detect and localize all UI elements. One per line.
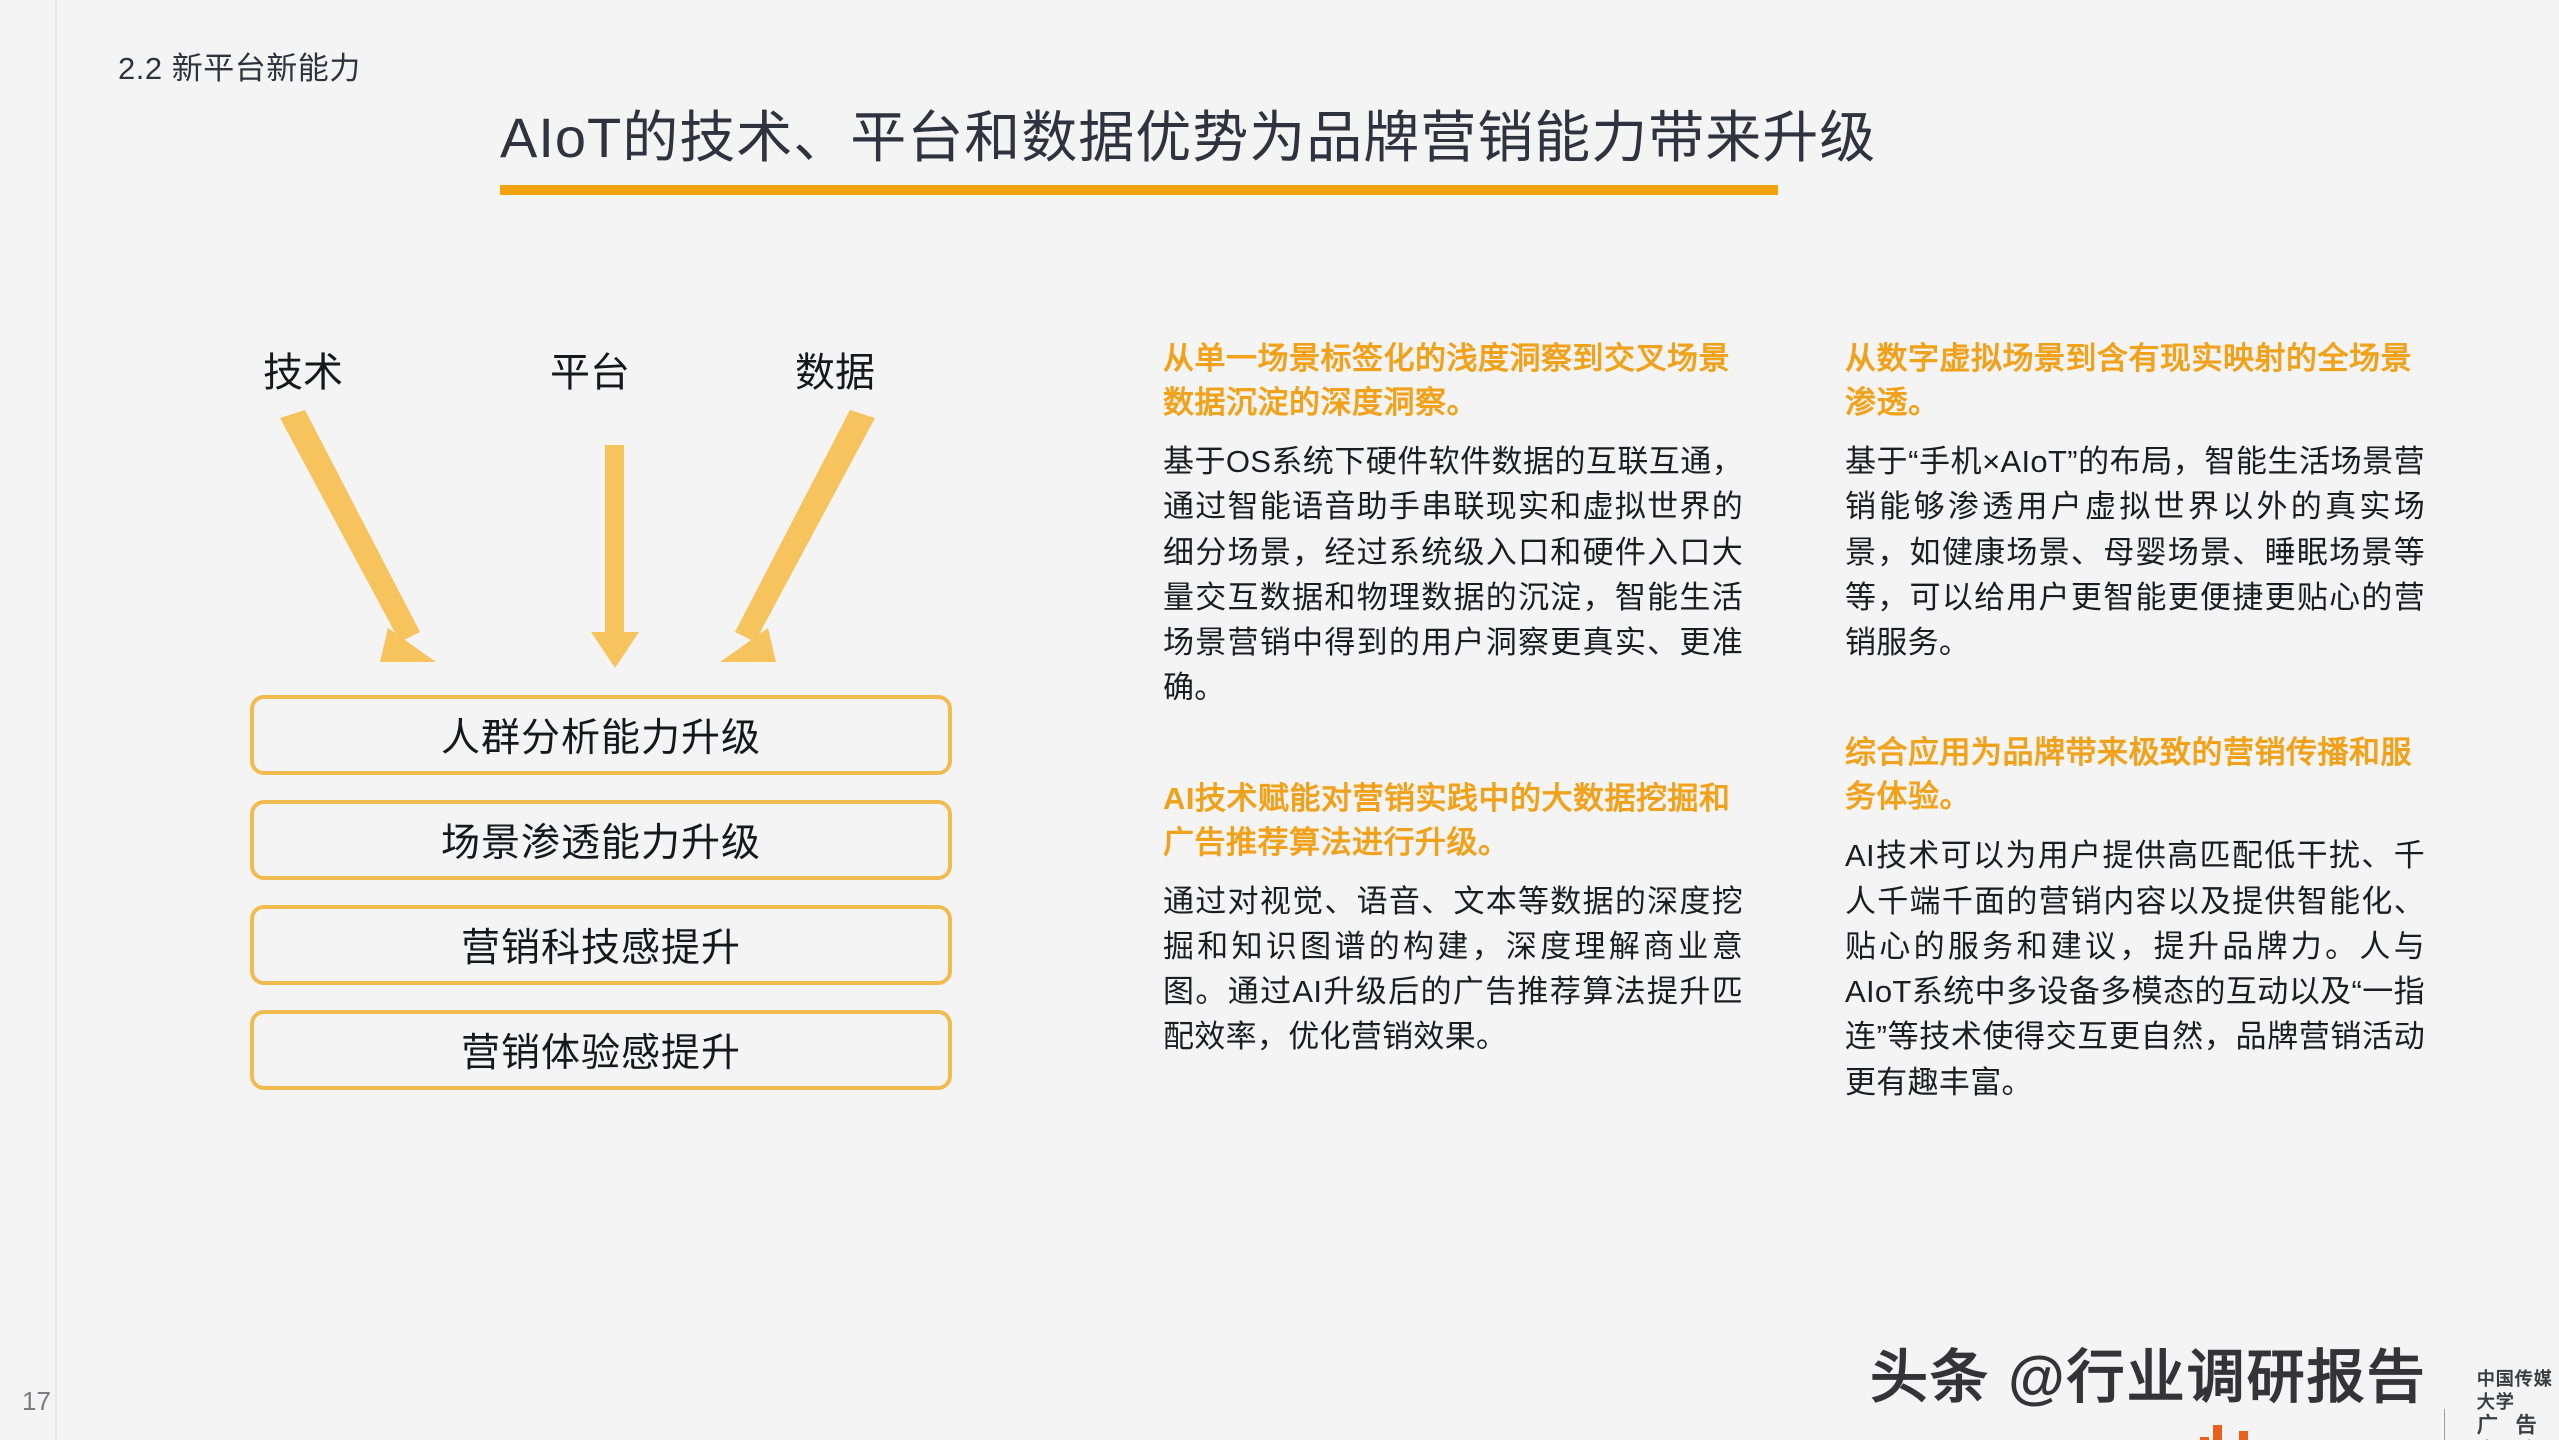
capability-label: 营销科技感提升 xyxy=(461,917,741,973)
left-margin-rule xyxy=(55,0,57,1440)
source-label-platform: 平台 xyxy=(550,340,630,398)
brand-footer: E.MI.COM 中国传媒大学 广 告 学 院 xyxy=(2200,1368,2559,1440)
capability-box-marketing-experience[interactable]: 营销体验感提升 xyxy=(250,1010,952,1090)
source-label-data: 数据 xyxy=(795,340,875,398)
title-underline xyxy=(500,185,1778,195)
arrow-down-icon xyxy=(591,445,639,668)
diagram-arrows xyxy=(250,410,980,670)
capability-box-scene-penetration[interactable]: 场景渗透能力升级 xyxy=(250,800,952,880)
text-block-scene-penetration: 从数字虚拟场景到含有现实映射的全场景渗透。 基于“手机×AIoT”的布局，智能生… xyxy=(1845,337,2425,665)
source-label-technology: 技术 xyxy=(263,340,343,398)
page-title: AIoT的技术、平台和数据优势为品牌营销能力带来升级 xyxy=(500,108,1800,168)
block-heading: 从数字虚拟场景到含有现实映射的全场景渗透。 xyxy=(1845,337,2425,425)
arrow-down-left-icon xyxy=(720,410,875,662)
block-heading: 从单一场景标签化的浅度洞察到交叉场景数据沉淀的深度洞察。 xyxy=(1163,337,1743,425)
page-number: 17 xyxy=(22,1386,51,1417)
capability-diagram: 技术 平台 数据 人群分析能力升级 场景渗 xyxy=(250,330,980,1160)
slide-root: 2.2 新平台新能力 AIoT的技术、平台和数据优势为品牌营销能力带来升级 技术… xyxy=(0,0,2559,1440)
text-block-brand-experience: 综合应用为品牌带来极致的营销传播和服务体验。 AI技术可以为用户提供高匹配低干扰… xyxy=(1845,731,2425,1105)
block-body: 基于OS系统下硬件软件数据的互联互通，通过智能语音助手串联现实和虚拟世界的细分场… xyxy=(1163,439,1743,711)
bar-chart-logo-icon xyxy=(2200,1423,2261,1440)
block-body: 通过对视觉、语音、文本等数据的深度挖掘和知识图谱的构建，深度理解商业意图。通过A… xyxy=(1163,879,1743,1060)
capability-label: 人群分析能力升级 xyxy=(441,707,761,763)
page-title-wrap: AIoT的技术、平台和数据优势为品牌营销能力带来升级 xyxy=(500,108,1800,195)
capability-label: 场景渗透能力升级 xyxy=(441,812,761,868)
capability-label: 营销体验感提升 xyxy=(461,1022,741,1078)
block-heading: AI技术赋能对营销实践中的大数据挖掘和广告推荐算法进行升级。 xyxy=(1163,777,1743,865)
block-body: 基于“手机×AIoT”的布局，智能生活场景营销能够渗透用户虚拟世界以外的真实场景… xyxy=(1845,439,2425,665)
section-kicker: 2.2 新平台新能力 xyxy=(118,43,361,88)
text-block-deep-insight: 从单一场景标签化的浅度洞察到交叉场景数据沉淀的深度洞察。 基于OS系统下硬件软件… xyxy=(1163,337,1743,711)
capability-box-crowd-analysis[interactable]: 人群分析能力升级 xyxy=(250,695,952,775)
capability-box-marketing-tech[interactable]: 营销科技感提升 xyxy=(250,905,952,985)
block-body: AI技术可以为用户提供高匹配低干扰、千人千端千面的营销内容以及提供智能化、贴心的… xyxy=(1845,833,2425,1105)
block-heading: 综合应用为品牌带来极致的营销传播和服务体验。 xyxy=(1845,731,2425,819)
brand-divider xyxy=(2444,1409,2445,1440)
capability-box-list: 人群分析能力升级 场景渗透能力升级 营销科技感提升 营销体验感提升 xyxy=(250,695,970,1115)
text-column-right: 从数字虚拟场景到含有现实映射的全场景渗透。 基于“手机×AIoT”的布局，智能生… xyxy=(1845,337,2425,1105)
org-name-university: 中国传媒大学 xyxy=(2477,1368,2559,1413)
brand-organization: 中国传媒大学 广 告 学 院 xyxy=(2477,1368,2559,1440)
text-column-middle: 从单一场景标签化的浅度洞察到交叉场景数据沉淀的深度洞察。 基于OS系统下硬件软件… xyxy=(1163,337,1743,1060)
arrow-down-right-icon xyxy=(280,410,436,662)
text-block-ai-algorithm: AI技术赋能对营销实践中的大数据挖掘和广告推荐算法进行升级。 通过对视觉、语音、… xyxy=(1163,777,1743,1060)
org-name-school: 广 告 学 院 xyxy=(2477,1413,2559,1440)
